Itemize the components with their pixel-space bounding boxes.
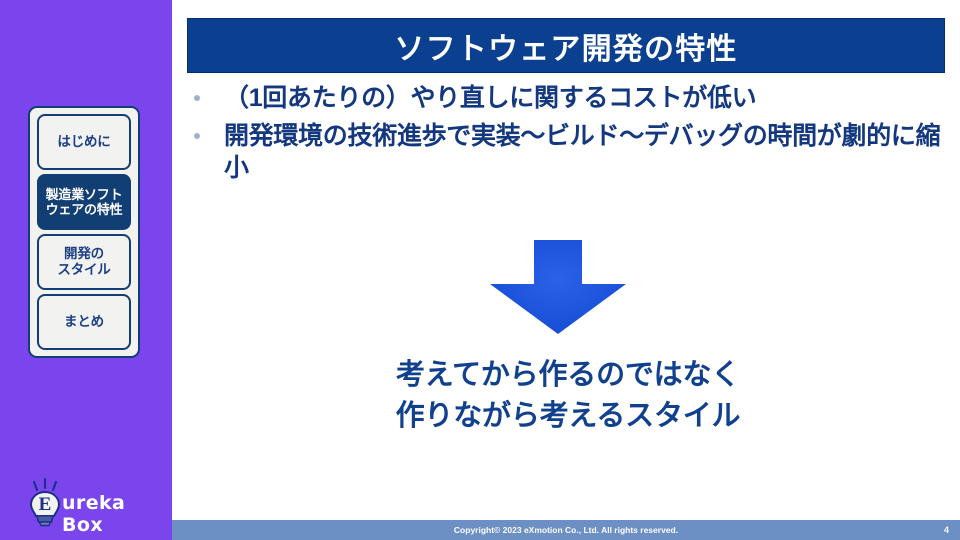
list-item: 開発環境の技術進歩で実装～ビルド～デバッグの時間が劇的に縮小 [188, 120, 948, 184]
page-number: 4 [944, 525, 949, 535]
sidebar-item-intro[interactable]: はじめに [37, 114, 131, 170]
slide-footer: Copyright© 2023 eXmotion Co., Ltd. All r… [172, 520, 960, 540]
bullet-dot-icon [194, 133, 200, 139]
sidebar-nav-card: はじめに 製造業ソフト ウェアの特性 開発の スタイル まとめ [28, 106, 140, 358]
conclusion-text: 考えてから作るのではなく 作りながら考えるスタイル [188, 355, 948, 437]
brand-logo-text: ureka Box [62, 492, 166, 536]
sidebar-item-manufacturing-software-traits[interactable]: 製造業ソフト ウェアの特性 [37, 174, 131, 230]
svg-text:E: E [39, 494, 52, 515]
sidebar-item-label: はじめに [57, 134, 110, 150]
brand-logo: E ureka Box [26, 478, 166, 528]
sidebar-item-summary[interactable]: まとめ [37, 294, 131, 350]
bullet-dot-icon [194, 95, 200, 101]
sidebar-item-label: 開発の スタイル [57, 246, 110, 278]
copyright-text: Copyright© 2023 eXmotion Co., Ltd. All r… [454, 525, 678, 535]
bullet-list: （1回あたりの）やり直しに関するコストが低い 開発環境の技術進歩で実装～ビルド～… [188, 82, 948, 190]
sidebar-item-label: まとめ [64, 314, 104, 330]
list-item-text: 開発環境の技術進歩で実装～ビルド～デバッグの時間が劇的に縮小 [224, 120, 948, 184]
down-arrow-icon [488, 238, 628, 336]
list-item-text: （1回あたりの）やり直しに関するコストが低い [224, 82, 948, 114]
conclusion-line-2: 作りながら考えるスタイル [188, 396, 948, 437]
sidebar-item-development-style[interactable]: 開発の スタイル [37, 234, 131, 290]
sidebar-item-label: 製造業ソフト ウェアの特性 [46, 187, 123, 218]
slide-title-bar: ソフトウェア開発の特性 [187, 18, 945, 73]
slide-canvas: はじめに 製造業ソフト ウェアの特性 開発の スタイル まとめ [0, 0, 960, 540]
sidebar-panel: はじめに 製造業ソフト ウェアの特性 開発の スタイル まとめ [0, 0, 172, 540]
page-title: ソフトウェア開発の特性 [394, 24, 737, 68]
conclusion-line-1: 考えてから作るのではなく [188, 355, 948, 396]
list-item: （1回あたりの）やり直しに関するコストが低い [188, 82, 948, 114]
